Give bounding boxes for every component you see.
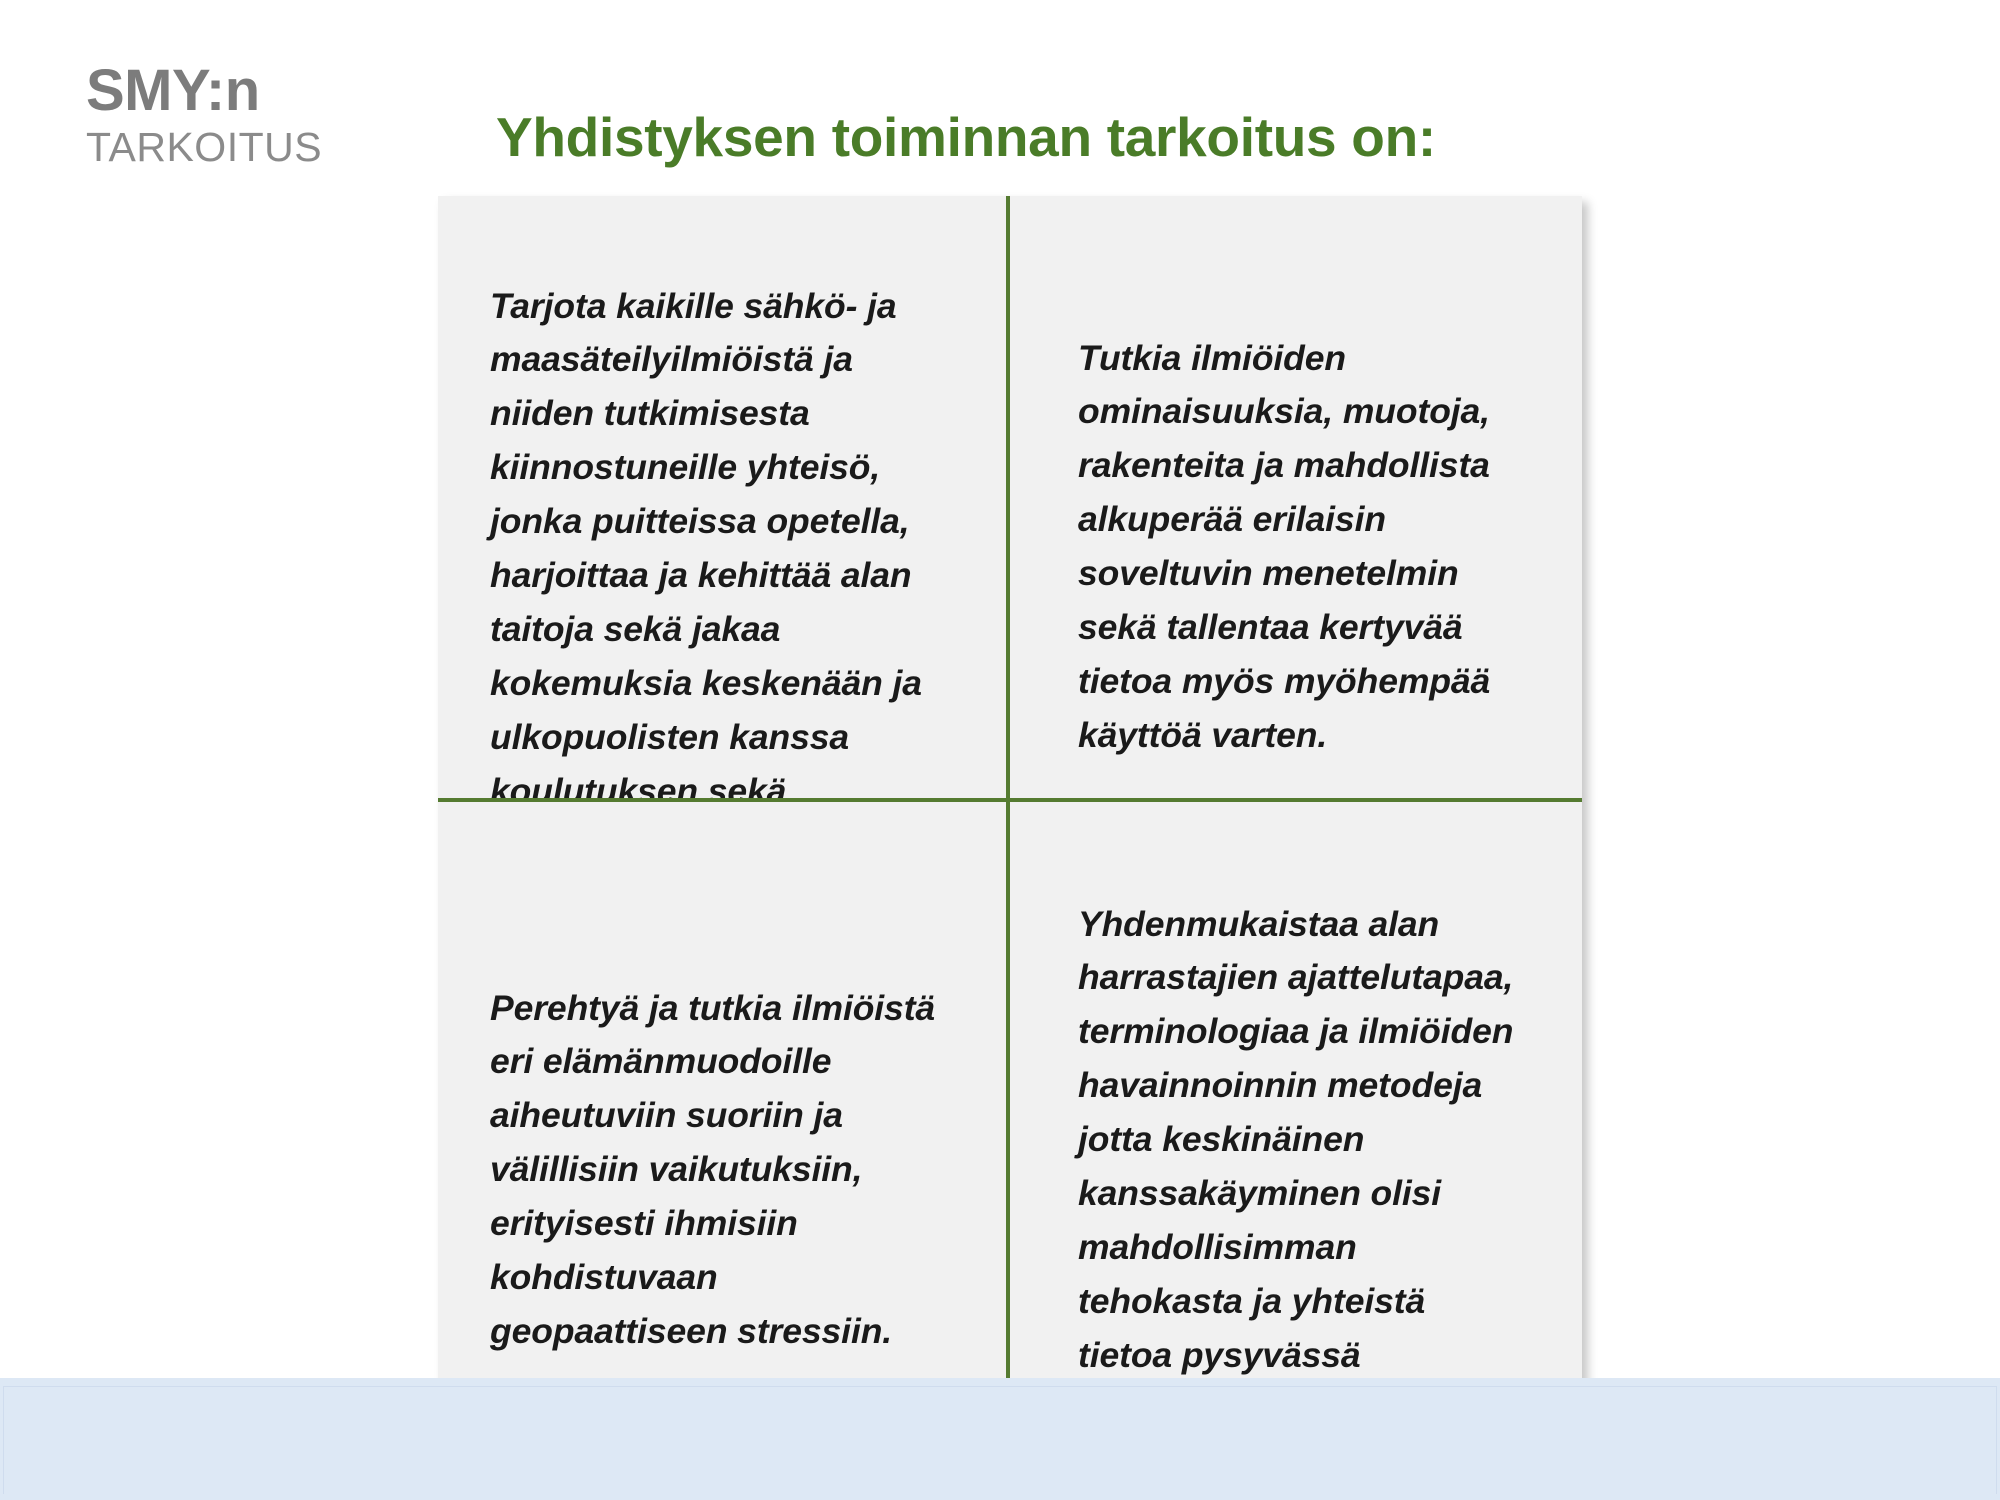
quadrant-text-top-right: Tutkia ilmiöiden ominaisuuksia, muotoja,… — [1078, 332, 1536, 764]
page-title: Yhdistyksen toiminnan tarkoitus on: — [496, 105, 1436, 169]
quadrant-text-bottom-left: Perehtyä ja tutkia ilmiöistä eri elämänm… — [484, 982, 964, 1360]
quadrant-text-top-left: Tarjota kaikille sähkö- ja maasäteilyilm… — [484, 280, 964, 801]
quadrant-cell-bottom-right: Yhdenmukaistaa alan harrastajien ajattel… — [1010, 800, 1582, 1404]
footer-band — [0, 1378, 2000, 1500]
purpose-quadrant-grid: Tarjota kaikille sähkö- ja maasäteilyilm… — [438, 196, 1582, 1404]
logo-primary-text: SMY:n — [86, 62, 322, 120]
logo-secondary-text: TARKOITUS — [86, 127, 322, 168]
quadrant-text-bottom-right: Yhdenmukaistaa alan harrastajien ajattel… — [1078, 898, 1536, 1405]
quadrant-cell-bottom-left: Perehtyä ja tutkia ilmiöistä eri elämänm… — [438, 800, 1010, 1404]
smy-logo: SMY:n TARKOITUS — [86, 62, 322, 168]
slide-canvas: SMY:n TARKOITUS Yhdistyksen toiminnan ta… — [0, 0, 2000, 1500]
quadrant-cell-top-right: Tutkia ilmiöiden ominaisuuksia, muotoja,… — [1010, 196, 1582, 800]
quadrant-cell-top-left: Tarjota kaikille sähkö- ja maasäteilyilm… — [438, 196, 1010, 800]
